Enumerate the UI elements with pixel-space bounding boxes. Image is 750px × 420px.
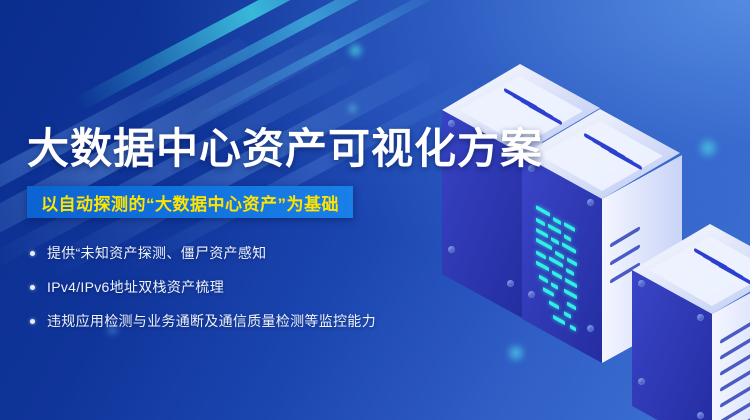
list-item: IPv4/IPv6地址双栈资产梳理 <box>30 274 450 300</box>
bullet-dot-icon <box>30 285 35 290</box>
page-title: 大数据中心资产可视化方案 <box>27 124 543 174</box>
bullet-text: 提供“未知资产探测、僵尸资产感知 <box>47 243 266 263</box>
feature-bullet-list: 提供“未知资产探测、僵尸资产感知 IPv4/IPv6地址双栈资产梳理 违规应用检… <box>30 240 450 342</box>
bullet-dot-icon <box>30 251 35 256</box>
subtitle-text: 以自动探测的“大数据中心资产”为基础 <box>41 190 339 215</box>
server-racks-illustration <box>440 50 750 420</box>
bullet-text: IPv4/IPv6地址双栈资产梳理 <box>47 277 224 297</box>
banner-root: 大数据中心资产可视化方案 以自动探测的“大数据中心资产”为基础 提供“未知资产探… <box>0 0 750 420</box>
list-item: 提供“未知资产探测、僵尸资产感知 <box>30 240 450 266</box>
subtitle-highlight-bar: 以自动探测的“大数据中心资产”为基础 <box>27 186 353 218</box>
list-item: 违规应用检测与业务通断及通信质量检测等监控能力 <box>30 308 450 334</box>
bullet-text: 违规应用检测与业务通断及通信质量检测等监控能力 <box>47 311 376 331</box>
bullet-dot-icon <box>30 319 35 324</box>
